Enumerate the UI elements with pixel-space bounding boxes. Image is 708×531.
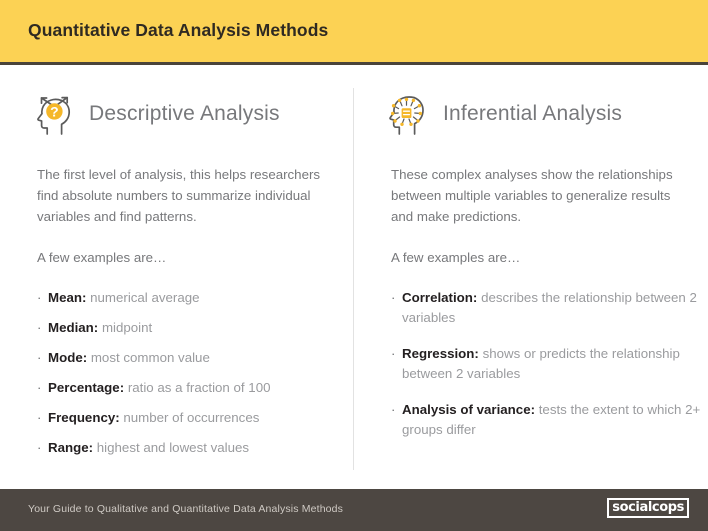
section-header-descriptive: ? Descriptive Analysis xyxy=(37,68,357,124)
slide-header: Quantitative Data Analysis Methods xyxy=(0,0,708,65)
bullet-term: Analysis of variance: xyxy=(402,402,535,417)
bullet-list-descriptive: · Mean: numerical average · Median: midp… xyxy=(37,288,357,458)
section-header-inferential: Inferential Analysis xyxy=(391,68,708,124)
bullet-marker-icon: · xyxy=(391,344,395,364)
section-title-inferential: Inferential Analysis xyxy=(443,102,622,126)
bullet-marker-icon: · xyxy=(37,378,41,398)
bullet-definition: numerical average xyxy=(90,290,199,305)
bullet-definition: ratio as a fraction of 100 xyxy=(128,380,271,395)
bullet-definition: highest and lowest values xyxy=(97,440,249,455)
list-item: · Regression: shows or predicts the rela… xyxy=(391,344,702,384)
bullet-term: Median: xyxy=(48,320,98,335)
list-item: · Range: highest and lowest values xyxy=(37,438,357,458)
bullet-list-inferential: · Correlation: describes the relationshi… xyxy=(391,288,708,440)
column-descriptive: ? Descriptive Analysis The first level o… xyxy=(37,68,357,468)
examples-lead-descriptive: A few examples are… xyxy=(37,247,357,268)
head-circuit-chip-icon xyxy=(382,91,430,139)
bullet-definition: number of occurrences xyxy=(123,410,259,425)
head-question-mark-icon: ? xyxy=(28,91,76,139)
list-item: · Median: midpoint xyxy=(37,318,357,338)
bullet-definition: midpoint xyxy=(102,320,152,335)
footer-caption: Your Guide to Qualitative and Quantitati… xyxy=(28,503,343,515)
list-item: · Mode: most common value xyxy=(37,348,357,368)
list-item: · Analysis of variance: tests the extent… xyxy=(391,400,702,440)
section-paragraph-inferential: These complex analyses show the relation… xyxy=(391,164,691,227)
socialcops-logo: socialcops xyxy=(607,498,689,518)
bullet-term: Mode: xyxy=(48,350,87,365)
bullet-marker-icon: · xyxy=(391,400,395,420)
bullet-term: Percentage: xyxy=(48,380,124,395)
list-item: · Percentage: ratio as a fraction of 100 xyxy=(37,378,357,398)
bullet-term: Frequency: xyxy=(48,410,120,425)
slide: Quantitative Data Analysis Methods xyxy=(0,0,708,531)
page-title: Quantitative Data Analysis Methods xyxy=(28,20,328,41)
socialcops-logo-text: socialcops xyxy=(612,501,684,514)
bullet-marker-icon: · xyxy=(37,288,41,308)
examples-lead-inferential: A few examples are… xyxy=(391,247,708,268)
column-inferential: Inferential Analysis These complex analy… xyxy=(391,68,708,456)
svg-text:?: ? xyxy=(50,104,59,120)
bullet-term: Range: xyxy=(48,440,93,455)
bullet-marker-icon: · xyxy=(37,408,41,428)
list-item: · Correlation: describes the relationshi… xyxy=(391,288,702,328)
slide-footer: Your Guide to Qualitative and Quantitati… xyxy=(0,489,708,531)
bullet-definition: most common value xyxy=(91,350,210,365)
bullet-marker-icon: · xyxy=(37,348,41,368)
bullet-term: Mean: xyxy=(48,290,86,305)
bullet-marker-icon: · xyxy=(37,438,41,458)
bullet-term: Correlation: xyxy=(402,290,477,305)
bullet-marker-icon: · xyxy=(391,288,395,308)
list-item: · Frequency: number of occurrences xyxy=(37,408,357,428)
bullet-marker-icon: · xyxy=(37,318,41,338)
content-area: ? Descriptive Analysis The first level o… xyxy=(0,68,708,485)
section-paragraph-descriptive: The first level of analysis, this helps … xyxy=(37,164,337,227)
list-item: · Mean: numerical average xyxy=(37,288,357,308)
section-title-descriptive: Descriptive Analysis xyxy=(89,102,280,126)
bullet-term: Regression: xyxy=(402,346,479,361)
